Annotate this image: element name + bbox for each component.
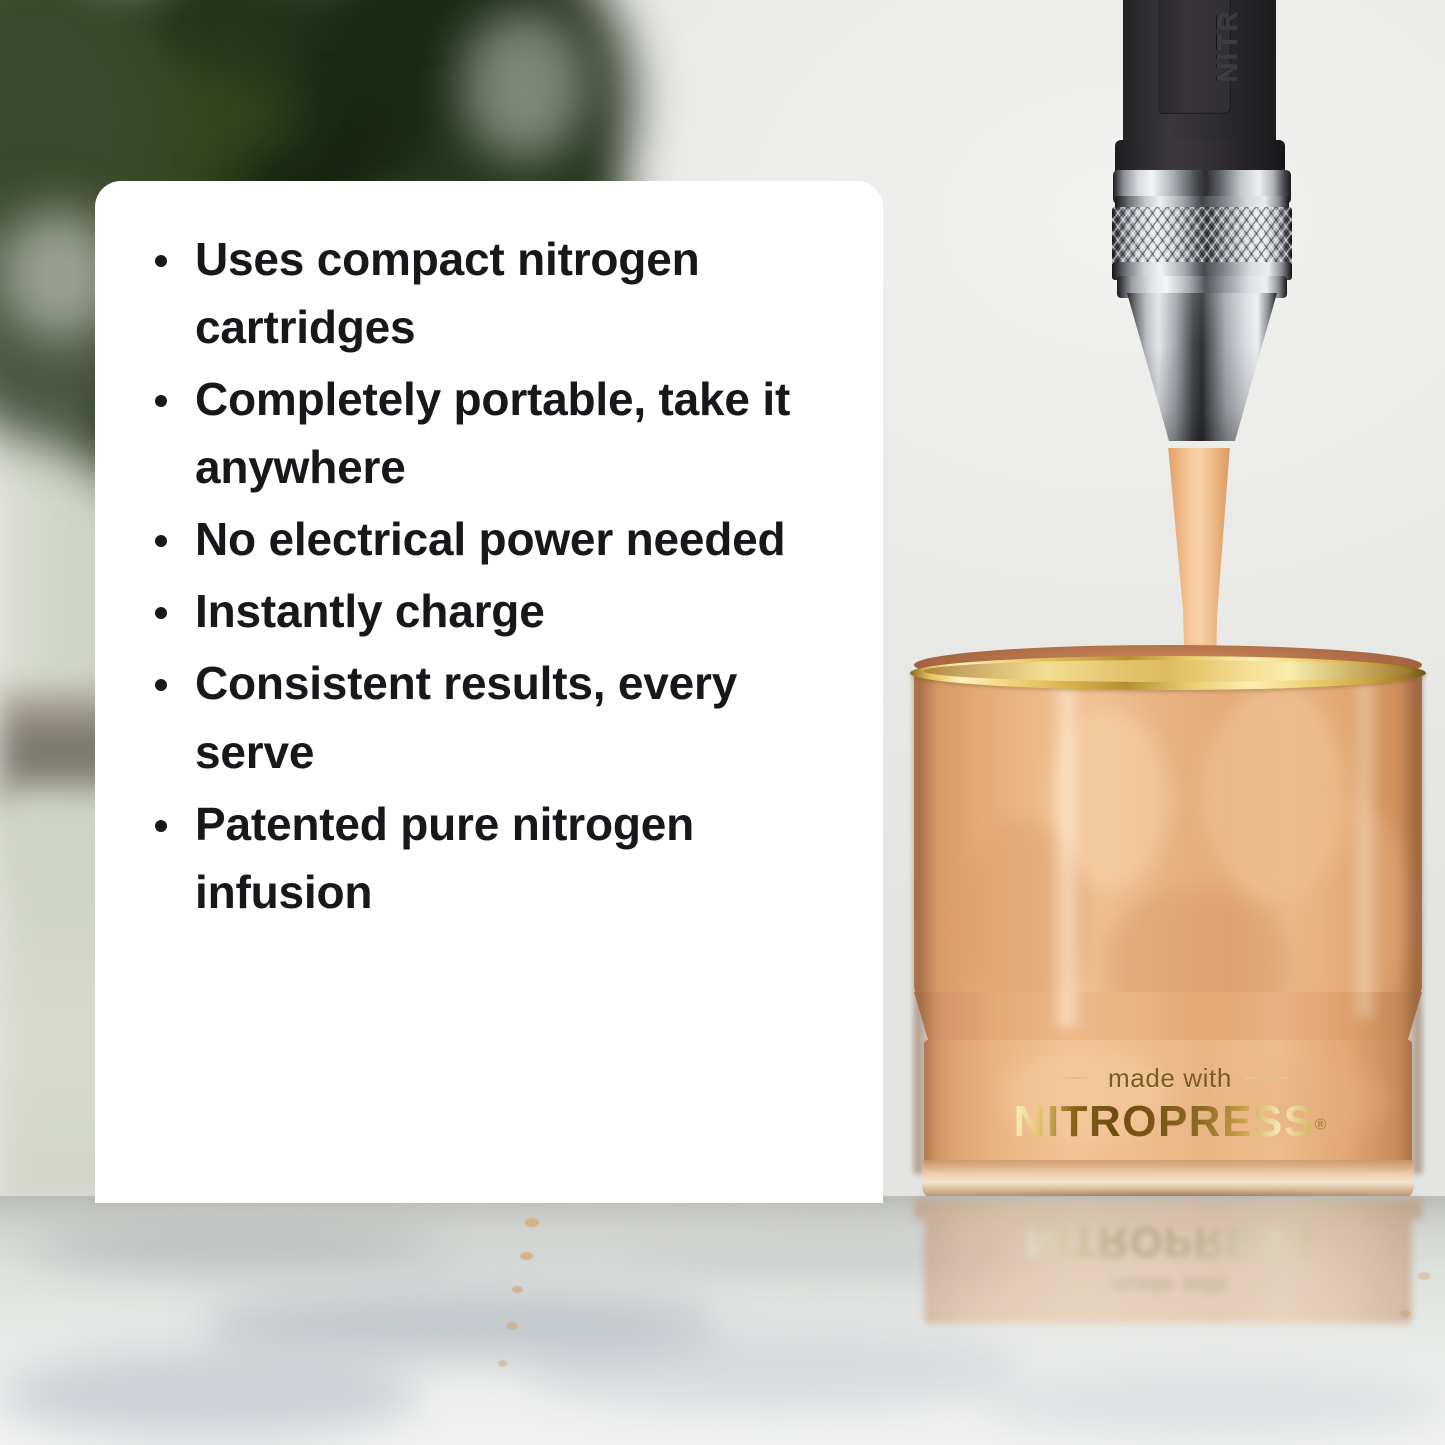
brand-made-with-text: made with bbox=[1108, 1065, 1232, 1091]
milk-swirl bbox=[1290, 800, 1410, 1020]
countertop-streak bbox=[380, 1245, 680, 1275]
brand-dash-left bbox=[1053, 1077, 1095, 1079]
reflection-nitropress-text: NITROPRESS bbox=[1026, 1221, 1314, 1263]
list-item: No electrical power needed bbox=[143, 505, 843, 573]
countertop-streak bbox=[0, 1350, 420, 1440]
brand-name-line: NITROPRESS® bbox=[984, 1091, 1356, 1144]
coffee-droplet bbox=[520, 1252, 533, 1260]
countertop-streak bbox=[30, 1225, 450, 1273]
knurled-collar bbox=[1112, 207, 1292, 264]
brand-made-with-line: made with bbox=[984, 1065, 1356, 1091]
handle-embossed-brand-text: NITR bbox=[1211, 0, 1243, 121]
reflection-brand-dash-right bbox=[1240, 1283, 1282, 1285]
list-item: Consistent results, every serve bbox=[143, 649, 843, 785]
glass-gold-rim-inner bbox=[924, 660, 1412, 682]
coffee-droplet bbox=[525, 1218, 539, 1227]
feature-bullet-list: Uses compact nitrogen cartridges Complet… bbox=[135, 225, 843, 926]
glass-edge-left bbox=[914, 674, 936, 1174]
nitropress-dispenser: NITR bbox=[1105, 0, 1305, 460]
list-item: Patented pure nitrogen infusion bbox=[143, 790, 843, 926]
coffee-droplet bbox=[498, 1360, 508, 1367]
nozzle-shading bbox=[1127, 293, 1277, 441]
glass-body-waist bbox=[914, 992, 1422, 1044]
handle-emboss-plate: NITR bbox=[1157, 0, 1231, 114]
glass-gold-foil-branding: made with NITROPRESS® bbox=[984, 1065, 1356, 1144]
glass-highlight-right bbox=[1352, 678, 1378, 1018]
reflection-made-with-text: made with bbox=[1113, 1272, 1228, 1296]
glass-highlight-left bbox=[1050, 678, 1084, 1028]
plant-light-gap bbox=[460, 10, 590, 160]
glass-edge-right bbox=[1400, 674, 1422, 1174]
list-item: Completely portable, take it anywhere bbox=[143, 365, 843, 501]
feature-list-card: Uses compact nitrogen cartridges Complet… bbox=[95, 181, 883, 1203]
list-item: Instantly charge bbox=[143, 577, 843, 645]
reflection-branding: made with NITROPRESS bbox=[984, 1221, 1356, 1296]
reflection-brand-dash-left bbox=[1058, 1283, 1100, 1285]
registered-trademark-mark: ® bbox=[1315, 1117, 1327, 1134]
coffee-droplet bbox=[512, 1286, 523, 1293]
brand-dash-right bbox=[1245, 1077, 1287, 1079]
reflection-brand-name-line: NITROPRESS bbox=[984, 1221, 1356, 1272]
brand-nitropress-text: NITROPRESS bbox=[1014, 1100, 1315, 1144]
reflection-made-with-line: made with bbox=[984, 1272, 1356, 1296]
glass-reflection: made with NITROPRESS bbox=[900, 1199, 1440, 1414]
nitro-latte-glass: made with NITROPRESS® bbox=[900, 640, 1440, 1215]
coffee-droplet bbox=[506, 1322, 518, 1330]
list-item: Uses compact nitrogen cartridges bbox=[143, 225, 843, 361]
